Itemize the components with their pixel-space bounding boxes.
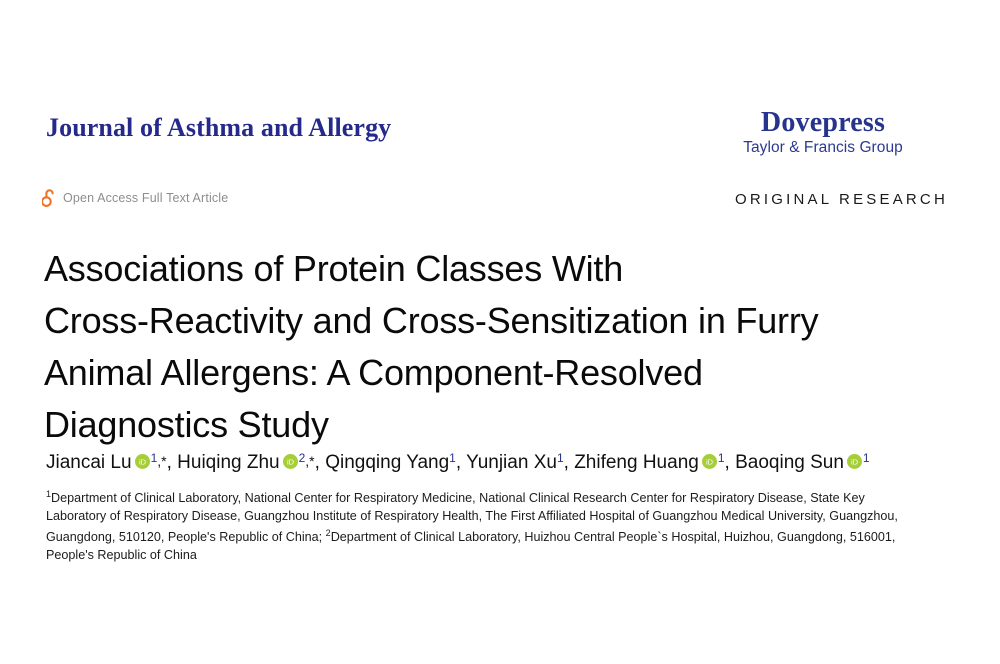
author-entry: Yunjian Xu1 — [466, 452, 564, 473]
page-title-line: Animal Allergens: A Component-Resolved — [44, 352, 703, 393]
author-affiliation-marker: 1 — [557, 451, 564, 465]
affiliations-block: 1Department of Clinical Laboratory, Nati… — [46, 486, 926, 564]
author-affiliation-marker: 1 — [449, 451, 456, 465]
open-access-badge[interactable]: Open Access Full Text Article — [42, 188, 228, 208]
publisher-name: Dovepress — [698, 108, 948, 137]
open-access-label: Open Access Full Text Article — [63, 191, 228, 205]
publisher-group: Taylor & Francis Group — [698, 139, 948, 157]
page-title-line: Cross-Reactivity and Cross-Sensitization… — [44, 300, 818, 341]
author-entry: Huiqing ZhuiD2,* — [177, 452, 314, 473]
author-entry: Jiancai LuiD1,* — [46, 452, 167, 473]
svg-text:iD: iD — [287, 458, 295, 467]
page-title-line: Associations of Protein Classes With — [44, 248, 623, 289]
author-entry: Zhifeng HuangiD1 — [574, 452, 724, 473]
author-name: Baoqing Sun — [735, 452, 844, 473]
orcid-id-icon[interactable]: iD — [135, 454, 150, 469]
author-entry: Qingqing Yang1 — [325, 452, 456, 473]
article-type-label: ORIGINAL RESEARCH — [735, 191, 948, 208]
author-affiliation-marker: 1 — [718, 451, 725, 465]
open-padlock-icon — [42, 188, 57, 208]
svg-text:iD: iD — [706, 458, 714, 467]
author-name: Huiqing Zhu — [177, 452, 279, 473]
author-entry: Baoqing SuniD1 — [735, 452, 870, 473]
orcid-id-icon[interactable]: iD — [283, 454, 298, 469]
author-name: Zhifeng Huang — [574, 452, 699, 473]
corresponding-author-marker: ,* — [157, 453, 166, 469]
publisher-logo: Dovepress Taylor & Francis Group — [698, 108, 948, 157]
page-title-line: Diagnostics Study — [44, 404, 329, 445]
svg-text:iD: iD — [139, 458, 147, 467]
corresponding-author-marker: ,* — [305, 453, 314, 469]
author-name: Yunjian Xu — [466, 452, 557, 473]
orcid-id-icon[interactable]: iD — [847, 454, 862, 469]
journal-title: Journal of Asthma and Allergy — [46, 113, 391, 143]
svg-text:iD: iD — [851, 458, 859, 467]
author-name: Jiancai Lu — [46, 452, 132, 473]
author-affiliation-marker: 1 — [863, 451, 870, 465]
author-list: Jiancai LuiD1,*, Huiqing ZhuiD2,*, Qingq… — [46, 444, 976, 477]
author-name: Qingqing Yang — [325, 452, 449, 473]
orcid-id-icon[interactable]: iD — [702, 454, 717, 469]
page-title: Associations of Protein Classes WithCros… — [44, 243, 964, 451]
